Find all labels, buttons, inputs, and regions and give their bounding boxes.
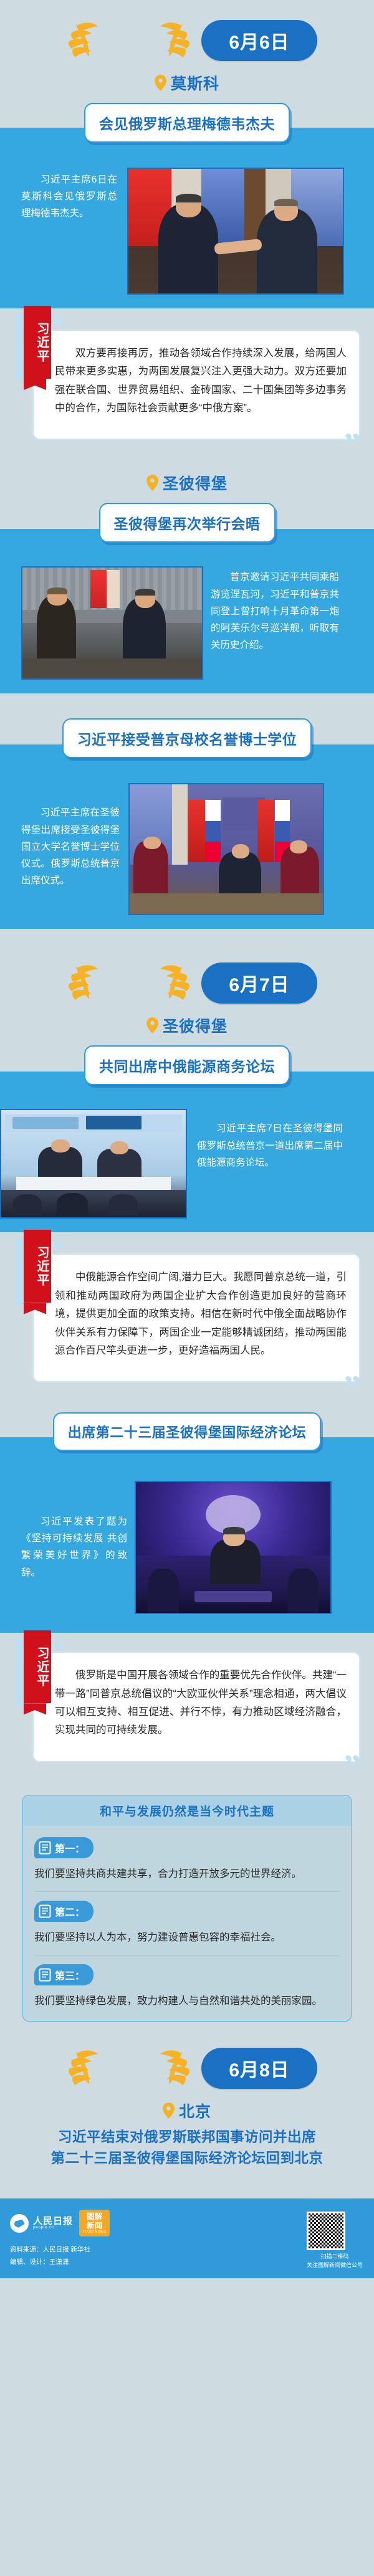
- headline-card: 圣彼得堡再次举行会晤: [99, 503, 276, 543]
- theme-tag-2: 第二：: [34, 1901, 93, 1922]
- theme-item: 第三： 我们要坚持绿色发展，致力构建人与自然和谐共处的美丽家园。: [34, 1955, 340, 2010]
- city-stpetersburg-2: 圣彼得堡: [0, 1014, 374, 1037]
- speaker-ribbon-2: 习近平: [24, 1230, 46, 1314]
- final-headline-line1: 习近平结束对俄罗斯联邦国事访问并出席: [11, 2127, 363, 2148]
- speaker-name: 习近平: [24, 1630, 51, 1703]
- theme-tag-label: 第二：: [55, 1904, 85, 1919]
- photo-spief-speech: [135, 1481, 332, 1614]
- qr-block: 扫描二维码 关注图解新闻微信公号: [307, 2212, 363, 2269]
- date-badge-june6: 6月6日: [0, 0, 374, 65]
- headline-card: 出席第二十三届圣彼得堡国际经济论坛: [53, 1412, 322, 1451]
- section-stpetersburg-header: 圣彼得堡 圣彼得堡再次举行会晤: [0, 456, 374, 545]
- section-june6-header: 6月6日 莫斯科 会见俄罗斯总理梅德韦杰夫: [0, 0, 374, 145]
- headline-card-wrap-1: 会见俄罗斯总理梅德韦杰夫: [0, 103, 374, 143]
- headline-card-wrap-3: 习近平接受普京母校名誉博士学位: [0, 718, 374, 758]
- theme-item-list: 第一： 我们要坚持共商共建共享，合力打造开放多元的世界经济。 第二： 我们要坚持…: [23, 1826, 351, 2021]
- caption-text-5: 习近平发表了题为《坚持可持续发展 共创繁荣美好世界》的致辞。: [0, 1481, 135, 1581]
- badge-label-en: TUJIE NEWS: [83, 2230, 106, 2234]
- logo-name-en: people.cn: [33, 2226, 73, 2230]
- theme-item: 第一： 我们要坚持共商共建共享，合力打造开放多元的世界经济。: [34, 1828, 340, 1883]
- city-label: 北京: [179, 2099, 211, 2122]
- quote-text: 双方要再接再厉，推动各领域合作持续深入发展，给两国人民带来更多实惠，为两国发展复…: [55, 345, 347, 417]
- location-pin-icon: [155, 75, 166, 91]
- logo-name-cn: 人民日报: [33, 2217, 73, 2227]
- footer: 人民日报 people.cn 图解 新闻 TUJIE NEWS 资料来源：人民日…: [0, 2198, 374, 2278]
- photo-band-3: 习近平主席在圣彼得堡出席接受圣彼得堡国立大学名誉博士学位仪式。俄罗斯总统普京出席…: [0, 744, 374, 929]
- qr-caption-line2: 关注图解新闻微信公号: [307, 2261, 363, 2270]
- peoples-daily-logo[interactable]: 人民日报 people.cn: [10, 2214, 73, 2233]
- peoples-daily-mark-icon: [10, 2214, 29, 2233]
- document-icon: [39, 1904, 51, 1918]
- speaker-ribbon-3: 习近平: [24, 1630, 46, 1714]
- city-label: 圣彼得堡: [163, 1014, 228, 1037]
- photo-band-2: 普京邀请习近平共同乘船游览涅瓦河，习近平和普京共同登上曾打响十月革命第一炮的阿芙…: [0, 529, 374, 693]
- city-label: 圣彼得堡: [163, 472, 228, 494]
- qr-caption: 扫描二维码 关注图解新闻微信公号: [307, 2253, 363, 2269]
- infographic-page: 6月6日 莫斯科 会见俄罗斯总理梅德韦杰夫 习近平主席6日在莫斯科会见俄罗斯总理…: [0, 0, 374, 2576]
- headline-card: 共同出席中俄能源商务论坛: [84, 1045, 290, 1085]
- final-headline-line2: 第二十三届圣彼得堡国际经济论坛回到北京: [11, 2148, 363, 2169]
- theme-panel: 和平与发展仍然是当今时代主题 第一： 我们要坚持共商共建共享，合力打造开放多元的…: [22, 1795, 352, 2022]
- qr-code-icon[interactable]: [307, 2212, 345, 2250]
- speaker-name: 习近平: [24, 306, 51, 379]
- photo-caption-row-1: 习近平主席6日在莫斯科会见俄罗斯总理梅德韦杰夫。: [0, 145, 374, 308]
- date-label: 6月7日: [201, 962, 317, 1004]
- qr-caption-line1: 扫描二维码: [307, 2253, 363, 2261]
- laurel-wreath-icon: [57, 959, 201, 1007]
- caption-text-3: 习近平主席在圣彼得堡出席接受圣彼得堡国立大学名誉博士学位仪式。俄罗斯总统普京出席…: [0, 783, 128, 889]
- headline-card-wrap-4: 共同出席中俄能源商务论坛: [0, 1045, 374, 1085]
- tujie-news-badge[interactable]: 图解 新闻 TUJIE NEWS: [79, 2210, 110, 2236]
- date-badge-june8: 6月8日: [0, 2044, 374, 2093]
- theme-text: 我们要坚持绿色发展，致力构建人与自然和谐共处的美丽家园。: [34, 1992, 340, 2010]
- photo-caption-row-4: 习近平主席7日在圣彼得堡同俄罗斯总统普京一道出席第二届中俄能源商务论坛。: [0, 1088, 374, 1232]
- headline-card-wrap-5: 出席第二十三届圣彼得堡国际经济论坛: [0, 1412, 374, 1451]
- quote-text-box-1: 双方要再接再厉，推动各领域合作持续深入发展，给两国人民带来更多实惠，为两国发展复…: [32, 330, 360, 440]
- city-stpetersburg-1: 圣彼得堡: [0, 472, 374, 494]
- speaker-ribbon-1: 习近平: [24, 306, 46, 390]
- caption-text-4: 习近平主席7日在圣彼得堡同俄罗斯总统普京一道出席第二届中俄能源商务论坛。: [187, 1109, 357, 1171]
- laurel-wreath-icon: [57, 2044, 201, 2093]
- quote-close-icon: ”: [343, 1757, 360, 1777]
- theme-tag-1: 第一：: [34, 1837, 93, 1858]
- quote-close-icon: ”: [343, 1377, 360, 1397]
- headline-card-wrap-2: 圣彼得堡再次举行会晤: [0, 503, 374, 543]
- headline-card: 习近平接受普京母校名誉博士学位: [62, 718, 312, 758]
- theme-text: 我们要坚持以人为本，努力建设普惠包容的幸福社会。: [34, 1929, 340, 1946]
- quote-text: 中俄能源合作空间广阔,潜力巨大。我愿同普京总统一道，引领和推动两国政府为两国企业…: [55, 1268, 347, 1360]
- caption-text-2: 普京邀请习近平共同乘船游览涅瓦河，习近平和普京共同登上曾打响十月革命第一炮的阿芙…: [203, 566, 353, 654]
- theme-tag-label: 第三：: [55, 1967, 85, 1982]
- photo-caption-row-2: 普京邀请习近平共同乘船游览涅瓦河，习近平和普京共同登上曾打响十月革命第一炮的阿芙…: [0, 545, 374, 693]
- quote-text-box-3: 俄罗斯是中国开展各领域合作的重要优先合作伙伴。共建“一带一路”同普京总统倡议的“…: [32, 1652, 360, 1762]
- photo-band-5: 习近平发表了题为《坚持可持续发展 共创繁荣美好世界》的致辞。: [0, 1437, 374, 1633]
- section-spief-header: 出席第二十三届圣彼得堡国际经济论坛: [0, 1399, 374, 1453]
- speaker-name: 习近平: [24, 1230, 51, 1303]
- date-label: 6月8日: [201, 2048, 317, 2089]
- quote-block-1: 习近平 “ 双方要再接再厉，推动各领域合作持续深入发展，给两国人民带来更多实惠，…: [0, 308, 374, 456]
- headline-card: 会见俄罗斯总理梅德韦杰夫: [84, 103, 290, 143]
- quote-text: 俄罗斯是中国开展各领域合作的重要优先合作伙伴。共建“一带一路”同普京总统倡议的“…: [55, 1666, 347, 1739]
- section-honorary-doctorate-header: 习近平接受普京母校名誉博士学位: [0, 693, 374, 761]
- photo-neva-river-boat: [21, 566, 203, 680]
- theme-item: 第二： 我们要坚持以人为本，努力建设普惠包容的幸福社会。: [34, 1891, 340, 1946]
- section-june8-header: 6月8日 北京 习近平结束对俄罗斯联邦国事访问并出席 第二十三届圣彼得堡国际经济…: [0, 2022, 374, 2185]
- document-icon: [39, 1841, 51, 1855]
- location-pin-icon: [146, 475, 158, 491]
- location-pin-icon: [163, 2103, 175, 2119]
- date-badge-june7: 6月7日: [0, 943, 374, 1007]
- date-label: 6月6日: [201, 20, 317, 61]
- quote-block-2: 习近平 “ 中俄能源合作空间广阔,潜力巨大。我愿同普京总统一道，引领和推动两国政…: [0, 1232, 374, 1399]
- badge-label-cn: 图解 新闻: [87, 2212, 102, 2230]
- theme-text: 我们要坚持共商共建共享，合力打造开放多元的世界经济。: [34, 1865, 340, 1883]
- caption-text-1: 习近平主席6日在莫斯科会见俄罗斯总理梅德韦杰夫。: [0, 168, 127, 222]
- quote-block-3: 习近平 “ 俄罗斯是中国开展各领域合作的重要优先合作伙伴。共建“一带一路”同普京…: [0, 1633, 374, 1778]
- photo-band-1: 习近平主席6日在莫斯科会见俄罗斯总理梅德韦杰夫。: [0, 128, 374, 308]
- quote-close-icon: ”: [343, 435, 360, 455]
- theme-tag-3: 第三：: [34, 1964, 93, 1985]
- laurel-wreath-icon: [57, 16, 201, 65]
- theme-tag-label: 第一：: [55, 1840, 85, 1855]
- photo-band-4: 习近平主席7日在圣彼得堡同俄罗斯总统普京一道出席第二届中俄能源商务论坛。: [0, 1072, 374, 1232]
- city-beijing: 北京: [0, 2099, 374, 2122]
- final-headline: 习近平结束对俄罗斯联邦国事访问并出席 第二十三届圣彼得堡国际经济论坛回到北京: [0, 2122, 374, 2169]
- city-june6: 莫斯科: [0, 72, 374, 94]
- section-june7-header: 6月7日 圣彼得堡 共同出席中俄能源商务论坛: [0, 929, 374, 1088]
- city-label: 莫斯科: [171, 72, 219, 94]
- photo-caption-row-5: 习近平发表了题为《坚持可持续发展 共创繁荣美好世界》的致辞。: [0, 1453, 374, 1633]
- quote-text-box-2: 中俄能源合作空间广阔,潜力巨大。我愿同普京总统一道，引领和推动两国政府为两国企业…: [32, 1253, 360, 1382]
- document-icon: [39, 1968, 51, 1982]
- location-pin-icon: [146, 1017, 158, 1034]
- photo-caption-row-3: 习近平主席在圣彼得堡出席接受圣彼得堡国立大学名誉博士学位仪式。俄罗斯总统普京出席…: [0, 761, 374, 929]
- photo-xi-medvedev: [127, 168, 344, 295]
- photo-energy-forum: [0, 1109, 187, 1219]
- theme-panel-title: 和平与发展仍然是当今时代主题: [23, 1795, 351, 1826]
- photo-honorary-ceremony: [128, 783, 324, 915]
